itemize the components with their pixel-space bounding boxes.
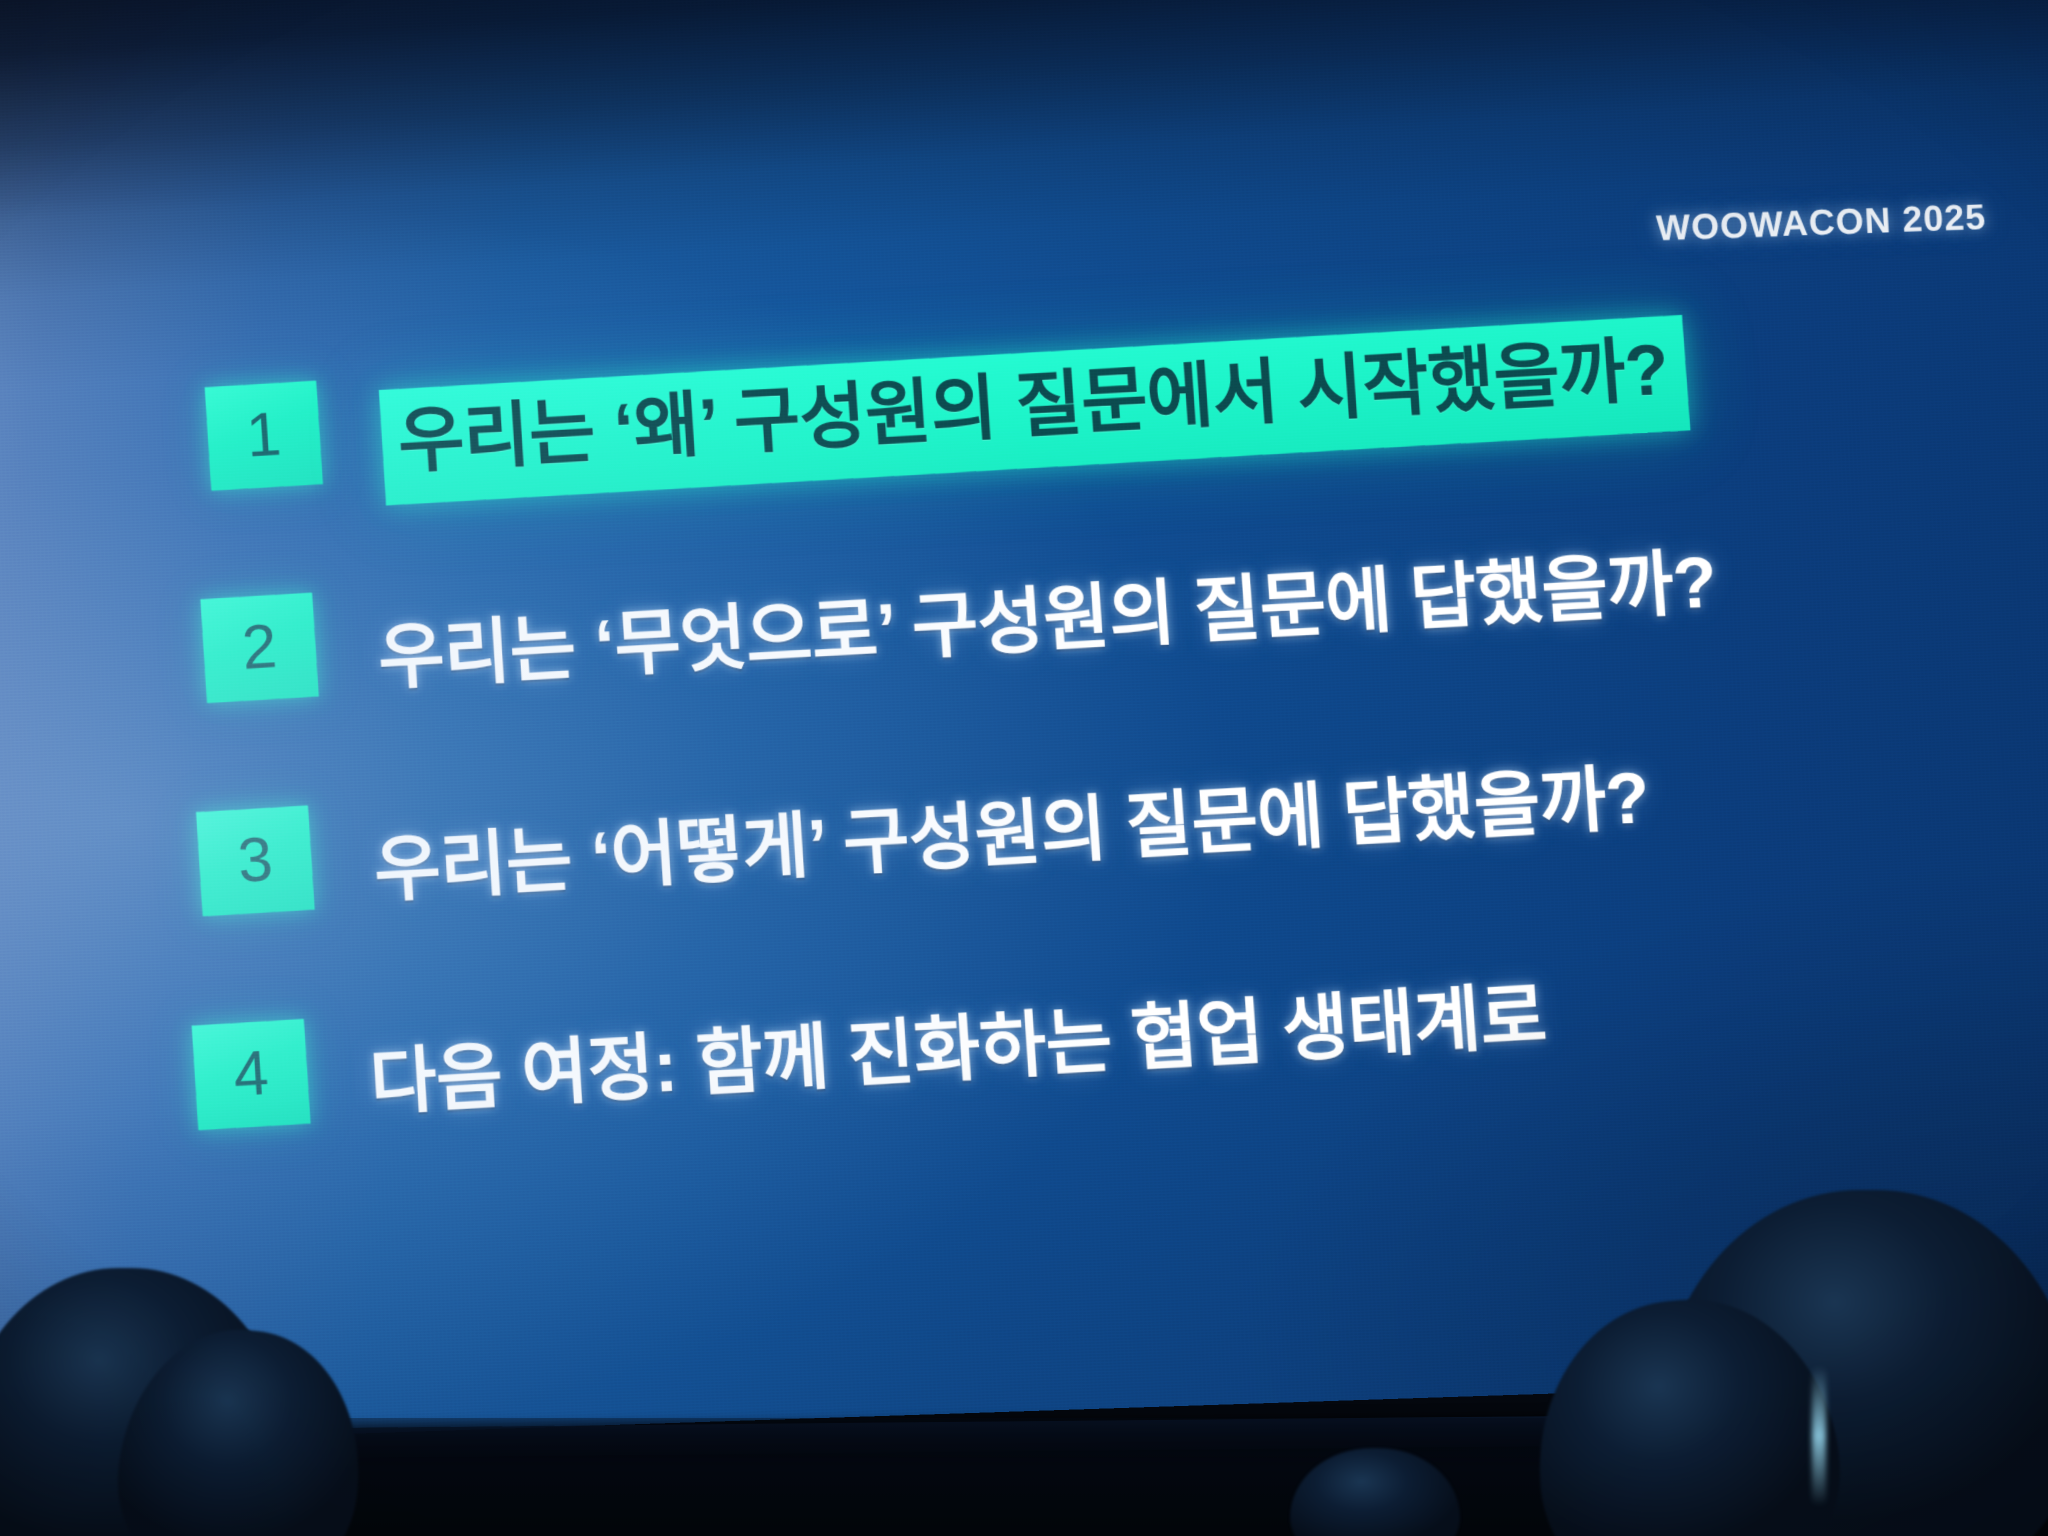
woowacon-logo: WOOWACON 2025 — [1655, 196, 1987, 249]
agenda-label-3: 우리는 ‘어떻게’ 구성원의 질문에 답했을까? — [372, 760, 1652, 912]
conference-photo: WOOWACON 2025 1 우리는 ‘왜’ 구성원의 질문에서 시작했을까?… — [0, 0, 2048, 1536]
agenda-label-1: 우리는 ‘왜’ 구성원의 질문에서 시작했을까? — [379, 315, 1691, 505]
agenda-number-badge-3: 3 — [196, 805, 315, 916]
agenda-number-badge-4: 4 — [192, 1019, 311, 1131]
projection-screen: WOOWACON 2025 1 우리는 ‘왜’ 구성원의 질문에서 시작했을까?… — [0, 0, 2048, 1446]
agenda-number-badge-1: 1 — [205, 381, 323, 491]
agenda-number-badge-2: 2 — [200, 592, 319, 703]
presentation-slide: WOOWACON 2025 1 우리는 ‘왜’ 구성원의 질문에서 시작했을까?… — [0, 0, 2048, 1446]
projection-screen-wrapper: WOOWACON 2025 1 우리는 ‘왜’ 구성원의 질문에서 시작했을까?… — [0, 0, 2048, 1536]
agenda-label-2: 우리는 ‘무엇으로’ 구성원의 질문에 답했을까? — [376, 544, 1719, 699]
agenda-list: 1 우리는 ‘왜’ 구성원의 질문에서 시작했을까? 2 우리는 ‘무엇으로’ … — [178, 275, 1977, 1183]
agenda-label-4: 다음 여정: 함께 진화하는 협업 생태계로 — [368, 978, 1549, 1124]
